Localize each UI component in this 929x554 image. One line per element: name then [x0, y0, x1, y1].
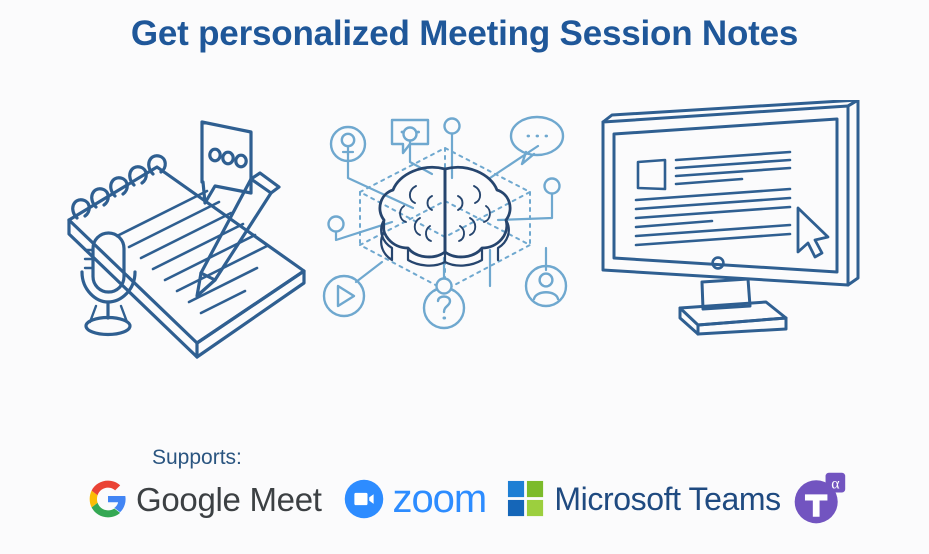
document-content	[636, 152, 790, 245]
platform-google-meet[interactable]: Google Meet	[88, 468, 322, 530]
spiral-notepad	[69, 156, 304, 357]
platform-microsoft-teams[interactable]: Microsoft Teams	[507, 468, 780, 530]
user-icon	[526, 266, 566, 306]
play-icon	[324, 276, 364, 316]
ruled-lines	[117, 191, 267, 313]
supports-label: Supports:	[152, 446, 242, 470]
google-meet-label: Google Meet	[136, 483, 322, 516]
svg-text:α: α	[831, 476, 839, 493]
chat-bubble-icon	[511, 117, 563, 164]
cursor-arrow	[798, 208, 828, 257]
platform-zoom[interactable]: zoom	[343, 468, 486, 530]
platform-t-alpha[interactable]: α	[790, 468, 848, 530]
slide-root: Get personalized Meeting Session Notes	[0, 0, 929, 554]
microphone-icon	[82, 233, 135, 335]
t-alpha-badge-icon: α	[790, 470, 848, 528]
pin-icon	[331, 127, 365, 161]
supported-platforms-row: Google Meet zoom Microsoft Teams	[88, 468, 848, 530]
microsoft-teams-label: Microsoft Teams	[554, 483, 780, 515]
zoom-camera-icon	[343, 478, 385, 520]
notepad-microphone-illustration	[55, 100, 315, 365]
illustration-band	[0, 100, 929, 370]
zoom-label: zoom	[392, 479, 486, 519]
microsoft-squares-icon	[507, 480, 545, 518]
ai-brain-network-illustration	[320, 100, 570, 345]
monitor-document-illustration	[590, 100, 875, 355]
page-title: Get personalized Meeting Session Notes	[0, 14, 929, 54]
google-g-icon	[88, 479, 128, 519]
document-text-lines	[636, 152, 790, 245]
